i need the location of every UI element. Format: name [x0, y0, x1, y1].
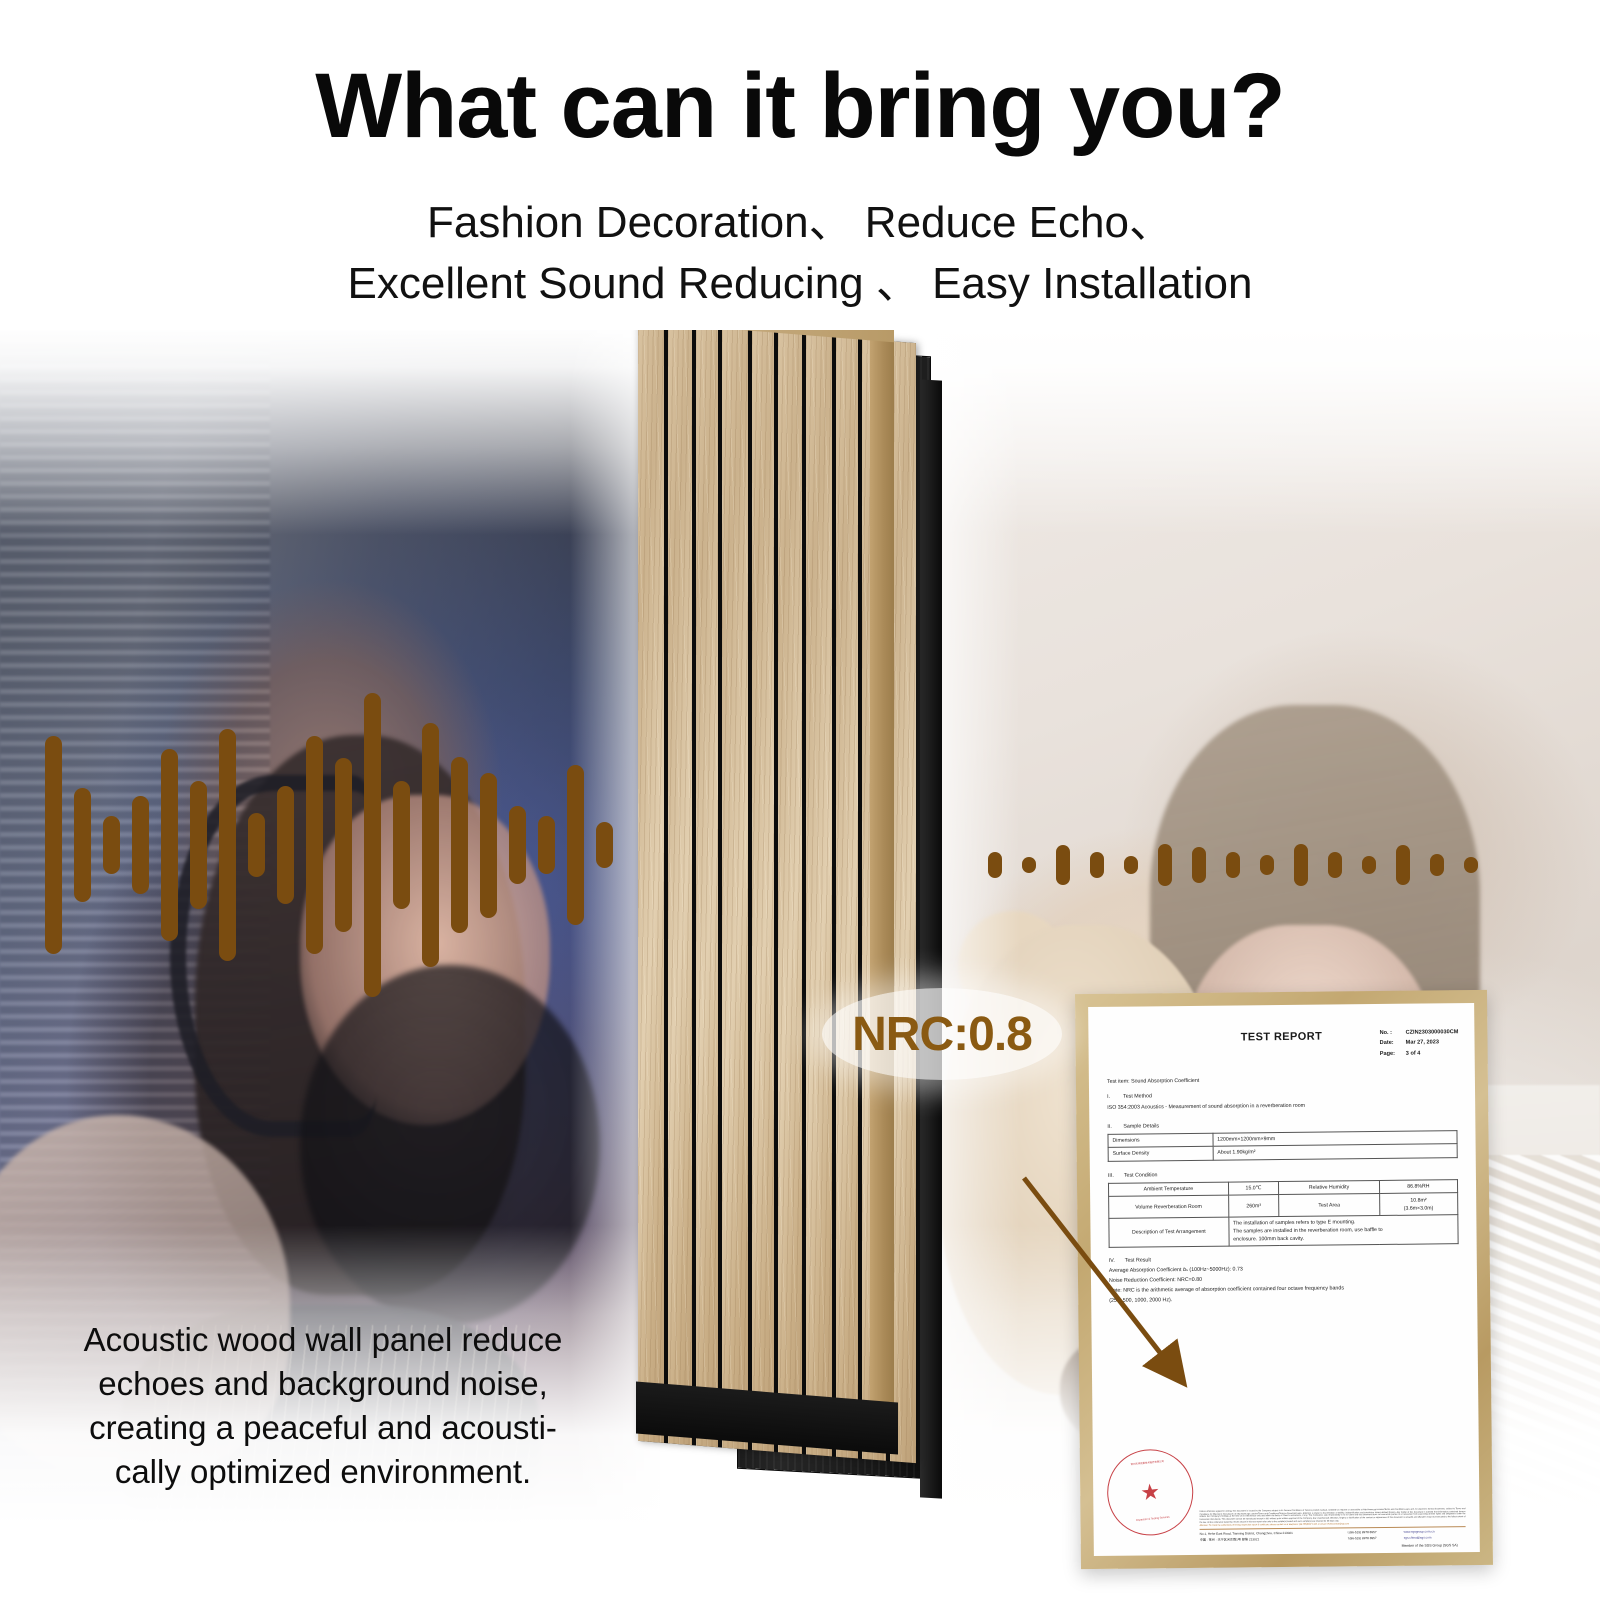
caption-line-3: creating a peaceful and acousti-: [18, 1406, 628, 1450]
report-footer: 常州天祥质量技术服务有限公司 ★ Inspection & Testing Se…: [1093, 1508, 1479, 1552]
area-value2: (3.6m×3.0m): [1384, 1204, 1453, 1213]
subtitle-line-2: Excellent Sound Reducing 、 Easy Installa…: [0, 254, 1600, 315]
waveform-bar: [335, 758, 352, 932]
waveform-bar: [277, 786, 294, 905]
report-page-key: Page:: [1380, 1048, 1406, 1059]
waveform-bar: [74, 788, 91, 901]
waveform-bar: [451, 757, 468, 934]
area-value-cell: 10.8m² (3.6m×3.0m): [1379, 1193, 1458, 1215]
report-date-key: Date:: [1380, 1038, 1406, 1049]
waveform-bar: [1226, 852, 1240, 878]
waveform-bar: [1362, 856, 1376, 874]
wood-slat: [752, 330, 774, 1452]
wood-slat: [722, 328, 748, 1450]
volume-value: 260m³: [1228, 1195, 1279, 1217]
waveform-bar: [190, 781, 207, 909]
seal-top-text: 常州天祥质量技术服务有限公司: [1105, 1457, 1189, 1469]
website: www.sgsgroup.com.cn: [1404, 1529, 1466, 1534]
waveform-bar: [1328, 852, 1342, 878]
waveform-bar: [1294, 844, 1308, 886]
waveform-bar: [45, 736, 62, 954]
waveform-bar: [219, 729, 236, 961]
waveform-bar: [988, 852, 1002, 878]
seal-bottom-text: Inspection & Testing Services: [1111, 1513, 1195, 1525]
waveform-bar: [422, 723, 439, 967]
wood-side-edge: [870, 323, 894, 1453]
waveform-bar: [306, 736, 323, 954]
wood-slat: [836, 337, 858, 1459]
wood-slat: [778, 332, 802, 1454]
arrangement-line-3: enclosure. 100mm back cavity.: [1233, 1233, 1453, 1243]
wood-slat: [638, 321, 664, 1443]
waveform-bar: [248, 813, 265, 877]
caption-line-4: cally optimized environment.: [18, 1450, 628, 1494]
wood-slat: [696, 325, 718, 1447]
waveform-bar: [161, 749, 178, 940]
waveform-bar: [393, 781, 410, 909]
waveform-bar: [538, 816, 555, 874]
waveform-bar: [1158, 844, 1172, 886]
humidity-value: 86.8%RH: [1379, 1180, 1458, 1194]
waveform-quiet: [988, 835, 1498, 895]
waveform-bar: [509, 806, 526, 884]
star-icon: ★: [1139, 1481, 1161, 1505]
arrangement-value: The installation of samples refers to ty…: [1228, 1215, 1458, 1247]
photo-top-fade: [0, 325, 660, 535]
phone-1: t (86-519) 8978 8957: [1348, 1529, 1404, 1534]
waveform-bar: [1260, 855, 1274, 875]
waveform-bar: [1124, 856, 1138, 874]
wood-slat: [668, 323, 692, 1445]
waveform-bar: [480, 773, 497, 918]
page-subtitle: Fashion Decoration、 Reduce Echo、 Excelle…: [0, 193, 1600, 314]
wood-slat: [806, 334, 832, 1456]
subtitle-line-1: Fashion Decoration、 Reduce Echo、: [427, 198, 1173, 247]
product-marketing-banner: NRC:0.8 TEST REPORT No. :CZIN2303000030C…: [0, 0, 1600, 1600]
header-block: What can it bring you? Fashion Decoratio…: [0, 0, 1600, 330]
waveform-bar: [1090, 852, 1104, 878]
address-cn: 中国 · 常州 · 天宁区河东路1号 邮编 213021: [1200, 1536, 1348, 1542]
report-date-value: Mar 27, 2023: [1406, 1040, 1439, 1046]
ambient-value: 15.0℃: [1228, 1181, 1279, 1195]
caption-line-1: Acoustic wood wall panel reduce: [18, 1318, 628, 1362]
sgs-seal-stamp: 常州天祥质量技术服务有限公司 ★ Inspection & Testing Se…: [1103, 1445, 1197, 1539]
email: sgs.china@sgs.com: [1404, 1535, 1466, 1540]
report-no-key: No. :: [1380, 1028, 1406, 1039]
report-no-value: CZIN2303000030CM: [1406, 1029, 1459, 1036]
product-caption: Acoustic wood wall panel reduce echoes a…: [18, 1318, 628, 1494]
waveform-bar: [596, 822, 613, 868]
footer-address-cn: 中国 · 常州 · 天宁区河东路1号 邮编 213021 f (86-519) …: [1200, 1535, 1466, 1543]
acoustic-panel-product: [620, 320, 960, 1510]
waveform-bar: [132, 796, 149, 895]
felt-side-edge: [920, 379, 942, 1498]
humidity-label: Relative Humidity: [1279, 1180, 1379, 1194]
photo-top-fade: [930, 325, 1600, 535]
waveform-bar: [1396, 845, 1410, 885]
waveform-bar: [1192, 847, 1206, 883]
pointer-arrow-icon: [1020, 1050, 1210, 1400]
caption-line-2: echoes and background noise,: [18, 1362, 628, 1406]
page-title: What can it bring you?: [0, 58, 1600, 155]
waveform-bar: [103, 816, 120, 874]
waveform-bar: [364, 693, 381, 998]
nrc-badge-label: NRC:0.8: [852, 1007, 1032, 1062]
nrc-badge: NRC:0.8: [822, 988, 1062, 1080]
report-meta: No. :CZIN2303000030CM Date:Mar 27, 2023 …: [1380, 1027, 1459, 1059]
phone-2: f (86-519) 8978 8957: [1348, 1536, 1404, 1541]
waveform-bar: [1022, 857, 1036, 873]
area-label: Test Area: [1279, 1194, 1380, 1217]
waveform-bar: [567, 765, 584, 925]
sgs-member-line: Member of the SGS Group (SGS SA): [1200, 1543, 1466, 1551]
density-value: About 1.90kg/m²: [1213, 1144, 1457, 1160]
report-page-value: 3 of 4: [1406, 1050, 1421, 1056]
waveform-loud: [45, 690, 625, 1000]
waveform-bar: [1464, 857, 1478, 873]
waveform-bar: [1056, 845, 1070, 885]
address-en: No.1, Hehe East Road, Tianning District,…: [1200, 1530, 1348, 1536]
waveform-bar: [1430, 854, 1444, 876]
